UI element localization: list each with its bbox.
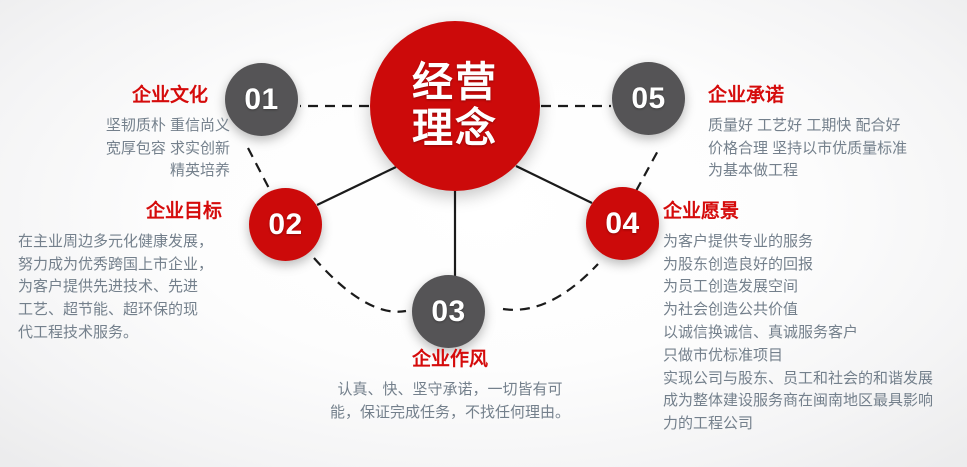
node-01[interactable]: 01 (225, 63, 298, 136)
line-center-to-02 (317, 167, 396, 205)
block-corporate-vision-body: 为客户提供专业的服务 为股东创造良好的回报 为员工创造发展空间 为社会创造公共价… (663, 231, 963, 436)
center-node-line-1: 经营 (412, 60, 498, 106)
node-04-label: 04 (605, 207, 639, 241)
node-02-label: 02 (268, 208, 302, 242)
line-center-to-04 (516, 166, 592, 203)
block-corporate-style-body: 认真、快、坚守承诺，一切皆有可 能，保证完成任务，不找任何理由。 (292, 379, 608, 425)
goal-line-3: 为客户提供先进技术、先进 (18, 276, 240, 299)
block-corporate-culture-body: 坚韧质朴 重信尚义 宽厚包容 求实创新 精英培养 (18, 115, 230, 183)
block-corporate-style: 企业作风 认真、快、坚守承诺，一切皆有可 能，保证完成任务，不找任何理由。 (292, 348, 608, 424)
style-line-1: 认真、快、坚守承诺，一切皆有可 (292, 379, 608, 402)
commitment-line-2: 价格合理 坚持以市优质量标准 (708, 138, 958, 161)
goal-line-1: 在主业周边多元化健康发展， (18, 231, 240, 254)
block-corporate-commitment: 企业承诺 质量好 工艺好 工期快 配合好 价格合理 坚持以市优质量标准 为基本做… (708, 84, 958, 183)
arc-04-to-05 (636, 147, 660, 191)
block-corporate-commitment-heading: 企业承诺 (708, 84, 958, 108)
block-corporate-vision-heading: 企业愿景 (663, 200, 963, 224)
culture-line-2: 宽厚包容 求实创新 (18, 138, 230, 161)
node-05[interactable]: 05 (612, 62, 685, 135)
node-03[interactable]: 03 (412, 275, 485, 348)
block-corporate-style-heading: 企业作风 (292, 348, 608, 372)
vision-line-5: 以诚信换诚信、真诚服务客户 (663, 322, 963, 345)
goal-line-4: 工艺、超节能、超环保的现 (18, 299, 240, 322)
vision-line-7: 实现公司与股东、员工和社会的和谐发展 (663, 368, 963, 391)
infographic-canvas: 经营 理念 01 02 03 04 05 企业文化 坚韧质朴 重信尚义 宽厚包容… (0, 0, 967, 467)
vision-line-4: 为社会创造公共价值 (663, 299, 963, 322)
culture-line-3: 精英培养 (18, 160, 230, 183)
block-corporate-culture: 企业文化 坚韧质朴 重信尚义 宽厚包容 求实创新 精英培养 (18, 84, 230, 183)
node-02[interactable]: 02 (249, 188, 322, 261)
center-node-core-concept[interactable]: 经营 理念 (370, 21, 540, 191)
culture-line-1: 坚韧质朴 重信尚义 (18, 115, 230, 138)
block-corporate-vision: 企业愿景 为客户提供专业的服务 为股东创造良好的回报 为员工创造发展空间 为社会… (663, 200, 963, 436)
arc-02-to-03 (314, 258, 406, 312)
arc-03-to-04 (503, 264, 598, 310)
node-05-label: 05 (631, 82, 665, 116)
block-corporate-commitment-body: 质量好 工艺好 工期快 配合好 价格合理 坚持以市优质量标准 为基本做工程 (708, 115, 958, 183)
commitment-line-3: 为基本做工程 (708, 160, 958, 183)
vision-line-9: 力的工程公司 (663, 413, 963, 436)
block-corporate-goal: 企业目标 在主业周边多元化健康发展， 努力成为优秀跨国上市企业， 为客户提供先进… (18, 200, 240, 345)
vision-line-1: 为客户提供专业的服务 (663, 231, 963, 254)
node-01-label: 01 (244, 83, 278, 117)
block-corporate-culture-heading: 企业文化 (18, 84, 230, 108)
goal-line-2: 努力成为优秀跨国上市企业， (18, 254, 240, 277)
vision-line-2: 为股东创造良好的回报 (663, 254, 963, 277)
commitment-line-1: 质量好 工艺好 工期快 配合好 (708, 115, 958, 138)
arc-01-to-02 (248, 148, 273, 196)
block-corporate-goal-heading: 企业目标 (18, 200, 240, 224)
vision-line-8: 成为整体建设服务商在闽南地区最具影响 (663, 390, 963, 413)
style-line-2: 能，保证完成任务，不找任何理由。 (292, 402, 608, 425)
goal-line-5: 代工程技术服务。 (18, 322, 240, 345)
node-03-label: 03 (431, 295, 465, 329)
vision-line-6: 只做市优标准项目 (663, 345, 963, 368)
block-corporate-goal-body: 在主业周边多元化健康发展， 努力成为优秀跨国上市企业， 为客户提供先进技术、先进… (18, 231, 240, 345)
node-04[interactable]: 04 (586, 187, 659, 260)
vision-line-3: 为员工创造发展空间 (663, 276, 963, 299)
center-node-line-2: 理念 (412, 106, 498, 152)
